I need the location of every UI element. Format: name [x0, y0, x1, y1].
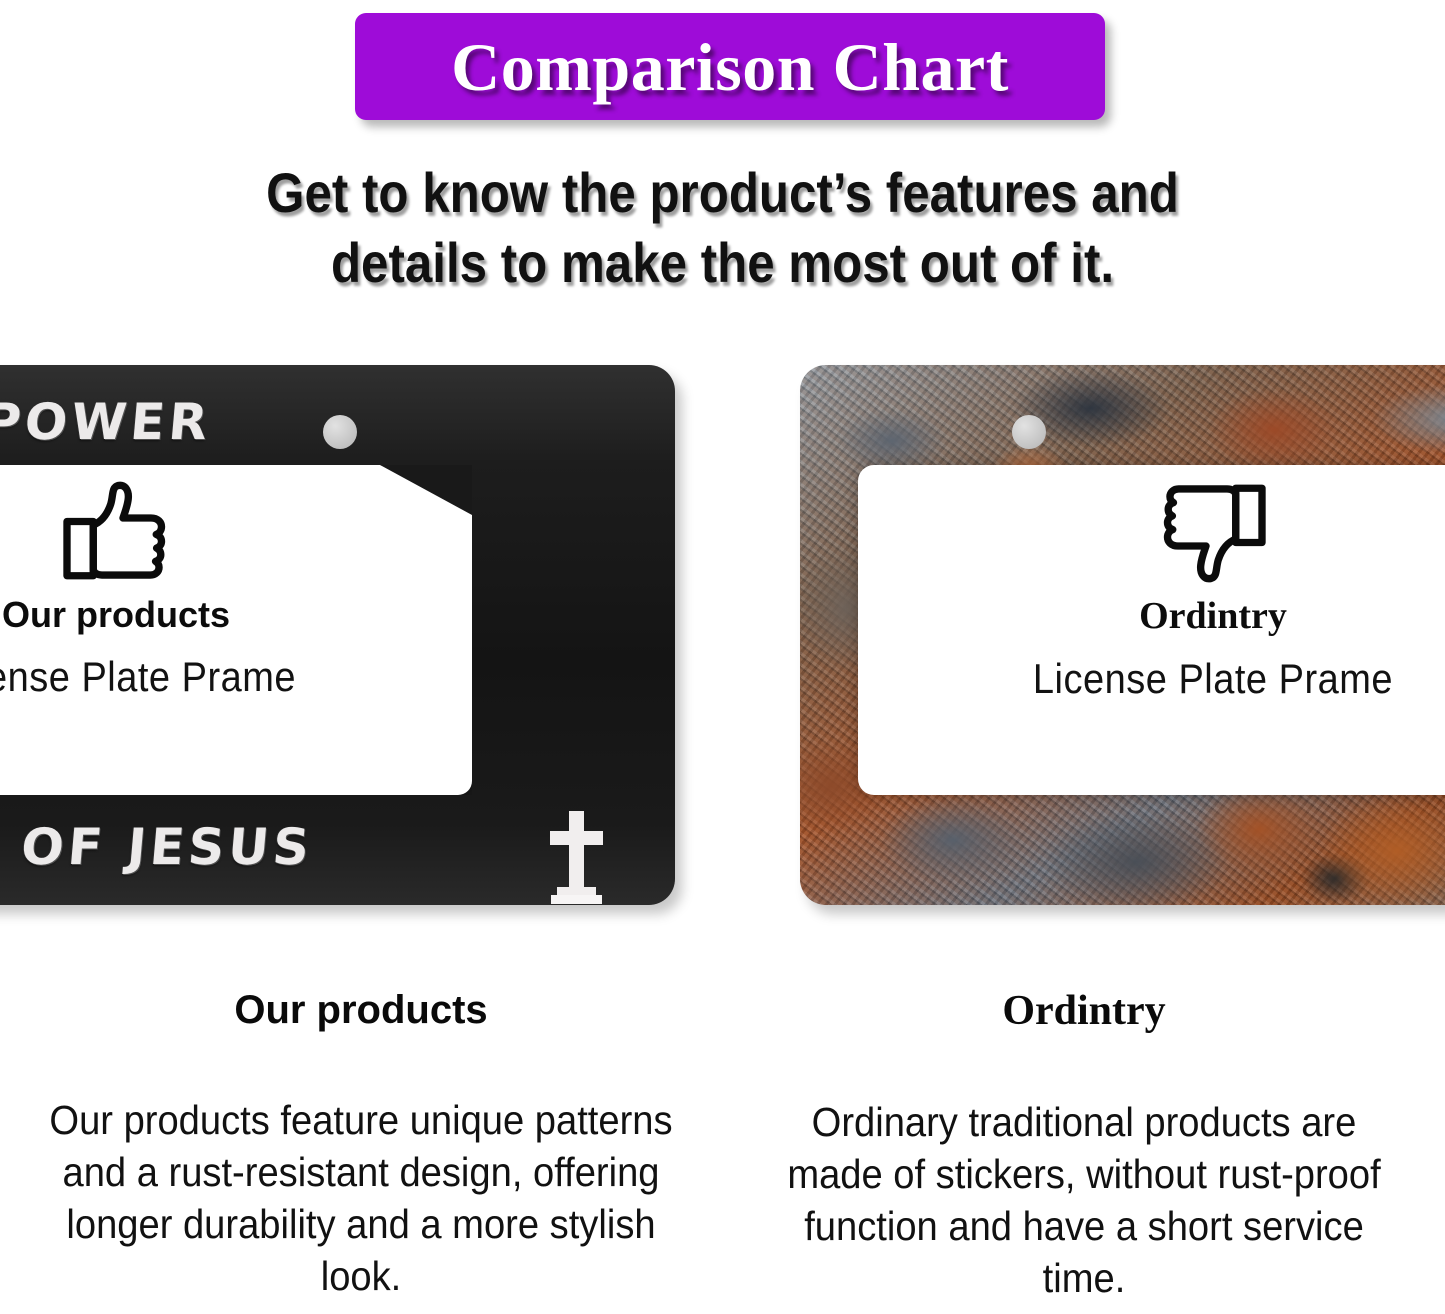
plate-window-right: Ordintry License Plate Prame	[858, 465, 1445, 795]
our-products-description: Our products feature unique patterns and…	[25, 1094, 696, 1302]
right-window-title: Ordintry	[1139, 597, 1287, 635]
our-products-column: Our products Our products feature unique…	[0, 990, 722, 1302]
cross-icon	[543, 809, 609, 905]
subtitle-line-2: details to make the most out of it.	[87, 228, 1359, 298]
ordintry-description: Ordinary traditional products are made o…	[748, 1096, 1419, 1304]
plate-window-left: Our products License Plate Prame	[0, 465, 472, 795]
left-window-subtitle: License Plate Prame	[0, 657, 296, 699]
thumbs-down-icon	[1157, 479, 1269, 585]
our-product-license-plate-frame: ERE IS POWER E NAME OF JESUS	[0, 365, 675, 905]
our-products-heading: Our products	[0, 990, 722, 1030]
mounting-hole-right	[1012, 415, 1046, 449]
comparison-descriptions: Our products Our products feature unique…	[0, 990, 1445, 1314]
title-banner: Comparison Chart	[355, 13, 1105, 120]
ordinary-product-license-plate-frame: Ordintry License Plate Prame	[800, 365, 1445, 905]
comparison-chart-page: Comparison Chart Get to know the product…	[0, 0, 1445, 1314]
subtitle-line-1: Get to know the product’s features and	[87, 158, 1359, 228]
frame-slogan-top: ERE IS POWER	[0, 397, 213, 447]
thumbs-up-icon	[60, 479, 172, 585]
right-window-content: Ordintry License Plate Prame	[858, 465, 1445, 795]
mounting-hole-left	[323, 415, 357, 449]
page-title: Comparison Chart	[451, 33, 1009, 101]
left-window-content: Our products License Plate Prame	[0, 465, 472, 795]
ordintry-heading: Ordintry	[723, 990, 1445, 1032]
product-frames-row: ERE IS POWER E NAME OF JESUS	[0, 360, 1445, 920]
right-window-subtitle: License Plate Prame	[1033, 659, 1393, 701]
ordintry-column: Ordintry Ordinary traditional products a…	[723, 990, 1445, 1304]
page-subtitle: Get to know the product’s features and d…	[87, 158, 1359, 298]
frame-slogan-bottom: E NAME OF JESUS	[0, 822, 315, 872]
left-window-title: Our products	[2, 597, 230, 633]
